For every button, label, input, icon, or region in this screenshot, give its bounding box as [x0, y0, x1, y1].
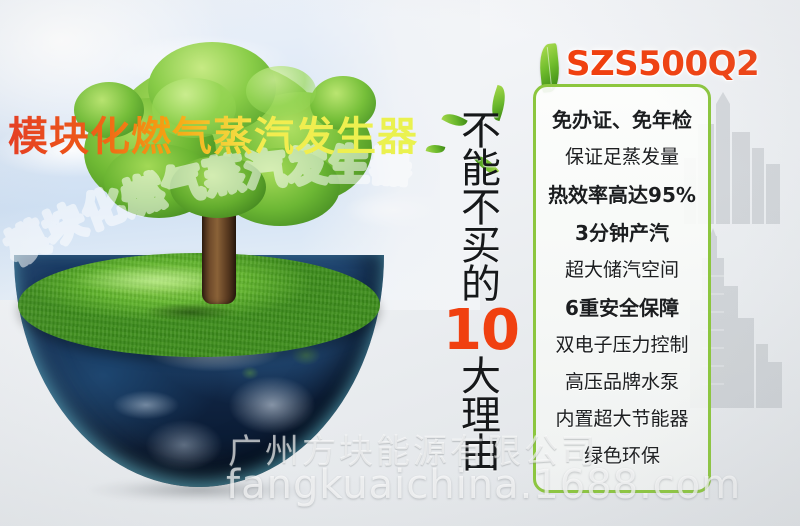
slogan-char: 能	[461, 150, 501, 188]
feature-item: 超大储汽空间	[565, 261, 679, 281]
feature-item: 热效率高达95%	[548, 185, 696, 206]
feature-item: 6重安全保障	[565, 298, 679, 319]
feature-item: 双电子压力控制	[555, 336, 688, 356]
tree-icon	[60, 36, 390, 296]
slogan-char: 买	[461, 227, 501, 265]
tree-canopy	[60, 36, 390, 226]
slogan-char: 不	[461, 112, 501, 150]
slogan-char: 大	[461, 358, 501, 396]
feature-item: 保证足蒸发量	[565, 148, 679, 168]
feature-item: 3分钟产汽	[575, 223, 669, 244]
model-code: SZS500Q2	[566, 44, 759, 84]
slogan-number: 10	[443, 305, 519, 357]
feature-item: 免办证、免年检	[552, 110, 692, 131]
watermark-site: fangkuaichina.1688.com	[226, 462, 800, 508]
poster-canvas: 模块化燃气蒸汽发生器 模块化燃气蒸汽发生器 不 能 不 买 的 10 大 理 由…	[0, 0, 800, 526]
slogan-char: 不	[461, 189, 501, 227]
feature-item: 高压品牌水泵	[565, 373, 679, 393]
tree-cast-shadow	[126, 299, 256, 325]
